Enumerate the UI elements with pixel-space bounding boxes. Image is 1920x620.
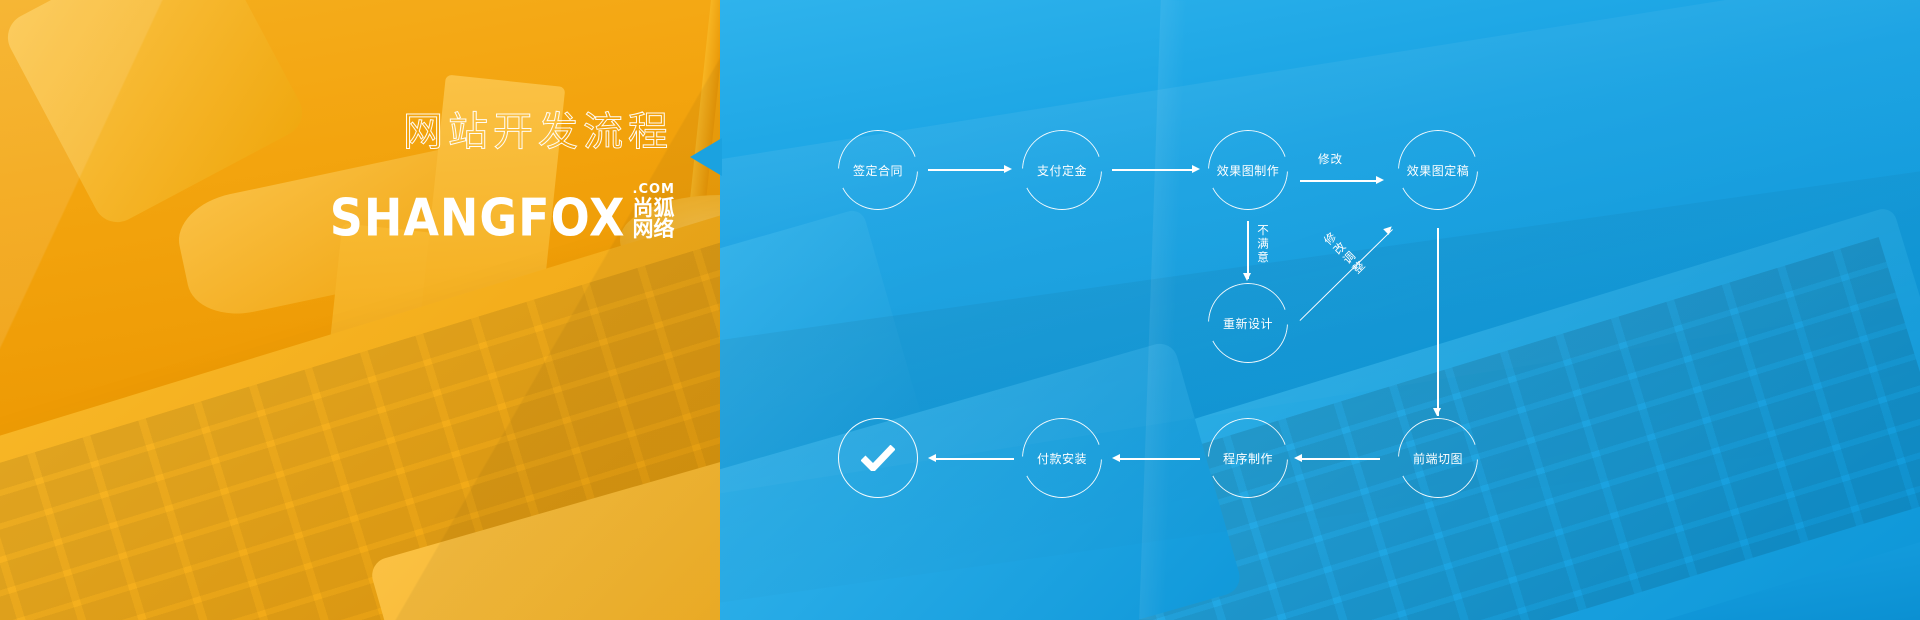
flow-node-redesign[interactable]: 重新设计	[1208, 283, 1288, 363]
process-flowchart: 签定合同 支付定金 效果图制作 效果图定稿 重新设计 前端切图 程序制作	[0, 0, 1920, 620]
flow-node-complete[interactable]	[838, 418, 918, 498]
flow-node-frontend-slicing[interactable]: 前端切图	[1398, 418, 1478, 498]
flow-node-label: 前端切图	[1413, 450, 1463, 467]
edge-label-unsatisfied: 不满意	[1255, 224, 1271, 265]
flow-node-program-production[interactable]: 程序制作	[1208, 418, 1288, 498]
edge-n8-n9-arrowhead	[928, 454, 936, 462]
edge-n1-n2	[928, 169, 1004, 171]
edge-n2-n3	[1112, 169, 1192, 171]
flow-node-label: 效果图制作	[1217, 162, 1280, 179]
edge-label-revise: 修改	[1318, 151, 1343, 167]
edge-n4-n6	[1437, 228, 1439, 416]
check-icon	[861, 445, 895, 471]
flow-node-pay-deposit[interactable]: 支付定金	[1022, 130, 1102, 210]
edge-n1-n2-arrowhead	[1004, 165, 1012, 173]
flow-node-payment-install[interactable]: 付款安装	[1022, 418, 1102, 498]
brand-block: 网站开发流程 SHANGFOX .COM 尚狐 网络	[330, 112, 675, 241]
flow-node-rendering-final[interactable]: 效果图定稿	[1398, 130, 1478, 210]
edge-n8-n9	[936, 458, 1014, 460]
logo-dotcom: .COM	[633, 182, 675, 197]
edge-n7-n8	[1120, 458, 1200, 460]
flow-node-label: 签定合同	[853, 162, 903, 179]
edge-n3-n5	[1247, 221, 1249, 279]
logo-wordmark: SHANGFOX	[330, 193, 626, 240]
company-logo: SHANGFOX .COM 尚狐 网络	[330, 182, 675, 241]
edge-n7-n8-arrowhead	[1112, 454, 1120, 462]
flow-node-label: 支付定金	[1037, 162, 1087, 179]
edge-n6-n7	[1302, 458, 1380, 460]
edge-n5-n4-arrowhead	[1383, 224, 1394, 235]
logo-suffix-group: .COM 尚狐 网络	[633, 182, 675, 241]
flow-node-sign-contract[interactable]: 签定合同	[838, 130, 918, 210]
page-title: 网站开发流程	[330, 112, 675, 152]
edge-label-revise-adjust: 修改调整	[1320, 229, 1369, 278]
flow-node-label: 程序制作	[1223, 450, 1273, 467]
edge-n3-n4	[1300, 180, 1376, 182]
website-development-process-banner: 网站开发流程 SHANGFOX .COM 尚狐 网络 签定合同 支付定金 效果图…	[0, 0, 1920, 620]
edge-n3-n4-arrowhead	[1376, 176, 1384, 184]
logo-chinese-line-2: 网络	[633, 219, 675, 240]
flow-node-rendering-production[interactable]: 效果图制作	[1208, 130, 1288, 210]
edge-n6-n7-arrowhead	[1294, 454, 1302, 462]
flow-node-label: 效果图定稿	[1407, 162, 1470, 179]
flow-node-label: 付款安装	[1037, 450, 1087, 467]
panel-divider-arrow	[690, 138, 722, 176]
edge-n2-n3-arrowhead	[1192, 165, 1200, 173]
logo-chinese-line-1: 尚狐	[633, 198, 675, 219]
flow-node-label: 重新设计	[1223, 315, 1273, 332]
edge-n4-n6-arrowhead	[1433, 408, 1441, 416]
edge-n3-n5-arrowhead	[1243, 273, 1251, 281]
